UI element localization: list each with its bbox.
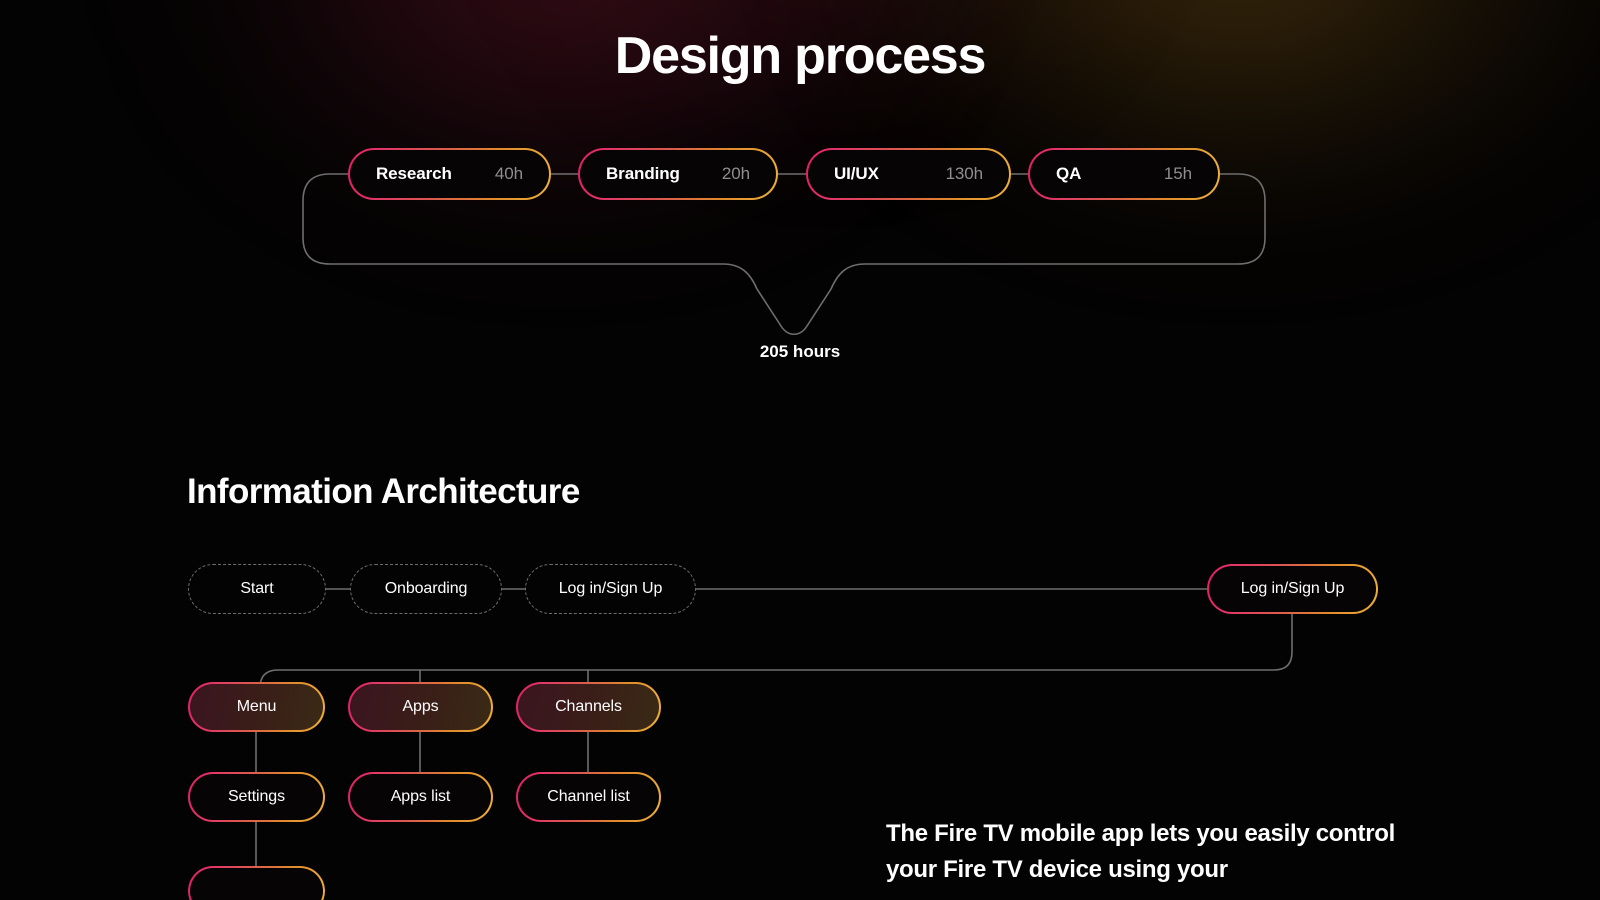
ia-node-login-dashed[interactable]: Log in/Sign Up	[525, 564, 696, 614]
ia-node-start[interactable]: Start	[188, 564, 326, 614]
ia-node-login-entry[interactable]: Log in/Sign Up	[1207, 564, 1378, 614]
total-hours-label: 205 hours	[0, 342, 1600, 362]
ia-node-onboarding[interactable]: Onboarding	[350, 564, 502, 614]
description-paragraph: The Fire TV mobile app lets you easily c…	[886, 816, 1406, 887]
ia-node-apps[interactable]: Apps	[348, 682, 493, 732]
process-step-label: Branding	[606, 164, 680, 184]
process-step-hours: 130h	[946, 164, 983, 184]
ia-node-label: Apps list	[391, 788, 451, 806]
page-title: Design process	[0, 26, 1600, 86]
section-title-information-architecture: Information Architecture	[187, 472, 580, 512]
ia-node-menu[interactable]: Menu	[188, 682, 325, 732]
process-step-qa[interactable]: QA 15h	[1028, 148, 1220, 200]
process-step-uiux[interactable]: UI/UX 130h	[806, 148, 1011, 200]
ia-node-channel-list[interactable]: Channel list	[516, 772, 661, 822]
ia-node-label: Log in/Sign Up	[559, 580, 663, 598]
wire-entry-bus	[260, 614, 1292, 688]
process-step-label: QA	[1056, 164, 1081, 184]
ia-node-label: Channel list	[547, 788, 629, 806]
ia-node-channels[interactable]: Channels	[516, 682, 661, 732]
process-step-hours: 20h	[722, 164, 750, 184]
ia-node-label: Log in/Sign Up	[1241, 580, 1345, 598]
ia-node-clipped[interactable]	[188, 866, 325, 900]
ia-node-label: Menu	[237, 698, 277, 716]
process-step-label: Research	[376, 164, 452, 184]
ia-node-apps-list[interactable]: Apps list	[348, 772, 493, 822]
process-step-hours: 40h	[495, 164, 523, 184]
ia-node-label: Settings	[228, 788, 285, 806]
ia-node-settings[interactable]: Settings	[188, 772, 325, 822]
ia-node-label: Onboarding	[385, 580, 468, 598]
process-step-branding[interactable]: Branding 20h	[578, 148, 778, 200]
process-step-research[interactable]: Research 40h	[348, 148, 551, 200]
page-canvas: Design process Information Architecture …	[0, 0, 1600, 900]
ia-node-label: Apps	[402, 698, 438, 716]
ia-node-label: Channels	[555, 698, 622, 716]
process-step-hours: 15h	[1164, 164, 1192, 184]
process-step-label: UI/UX	[834, 164, 879, 184]
ia-node-label: Start	[240, 580, 273, 598]
connector-layer	[0, 0, 1600, 900]
